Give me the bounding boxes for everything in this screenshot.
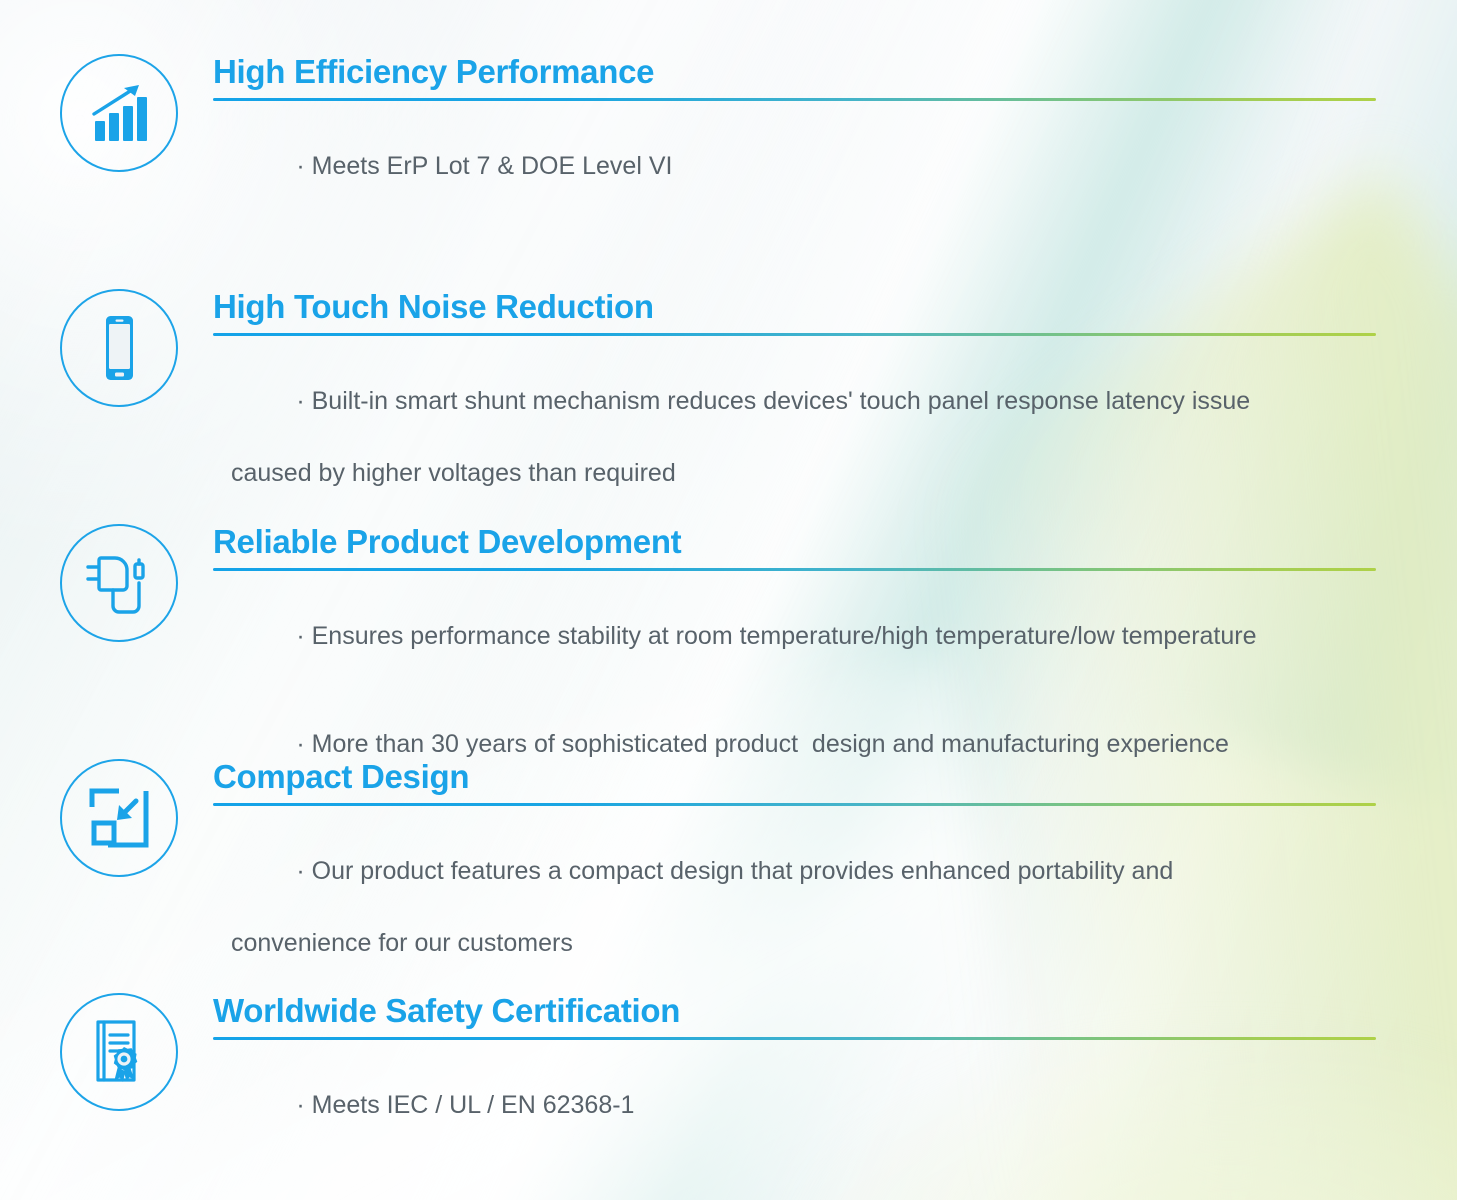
feature-title: Worldwide Safety Certification: [213, 993, 1376, 1030]
feature-bullet: · Meets ErP Lot 7 & DOE Level VI: [213, 112, 1376, 220]
feature-content: Reliable Product Development · Ensures p…: [213, 524, 1376, 798]
power-adapter-icon: [60, 524, 178, 642]
bullet-line: · Meets IEC / UL / EN 62368-1: [296, 1091, 634, 1119]
bullet-line: · Meets ErP Lot 7 & DOE Level VI: [296, 152, 672, 180]
bullet-line: · More than 30 years of sophisticated pr…: [296, 730, 1229, 758]
feature-icon-wrapper: [60, 993, 178, 1111]
feature-divider: [213, 98, 1376, 101]
feature-bullet: · Ensures performance stability at room …: [213, 582, 1376, 690]
feature-title: Reliable Product Development: [213, 524, 1376, 561]
feature-title: Compact Design: [213, 759, 1376, 796]
feature-icon-wrapper: [60, 524, 178, 642]
feature-content: High Touch Noise Reduction · Built-in sm…: [213, 289, 1376, 563]
compact-resize-icon: [60, 759, 178, 877]
feature-icon-wrapper: [60, 289, 178, 407]
feature-title: High Efficiency Performance: [213, 54, 1376, 91]
feature-highlights-page: High Efficiency Performance · Meets ErP …: [0, 0, 1457, 1200]
feature-divider: [213, 1037, 1376, 1040]
feature-icon-wrapper: [60, 54, 178, 172]
bullet-line: caused by higher voltages than required: [213, 455, 1376, 491]
certificate-seal-icon: [60, 993, 178, 1111]
feature-divider: [213, 568, 1376, 571]
feature-content: High Efficiency Performance · Meets ErP …: [213, 54, 1376, 220]
bullet-line: convenience for our customers: [213, 925, 1376, 961]
smartphone-icon: [60, 289, 178, 407]
feature-divider: [213, 333, 1376, 336]
feature-divider: [213, 803, 1376, 806]
feature-icon-wrapper: [60, 759, 178, 877]
bullet-line: · Our product features a compact design …: [296, 857, 1173, 885]
feature-title: High Touch Noise Reduction: [213, 289, 1376, 326]
feature-bullets: · Meets ErP Lot 7 & DOE Level VI: [213, 112, 1376, 220]
feature-content: Worldwide Safety Certification · Meets I…: [213, 993, 1376, 1159]
feature-bullets: · Meets IEC / UL / EN 62368-1: [213, 1051, 1376, 1159]
bullet-line: · Ensures performance stability at room …: [296, 622, 1256, 650]
growth-chart-icon: [60, 54, 178, 172]
feature-bullet: · Meets IEC / UL / EN 62368-1: [213, 1051, 1376, 1159]
bullet-line: · Built-in smart shunt mechanism reduces…: [296, 387, 1250, 415]
